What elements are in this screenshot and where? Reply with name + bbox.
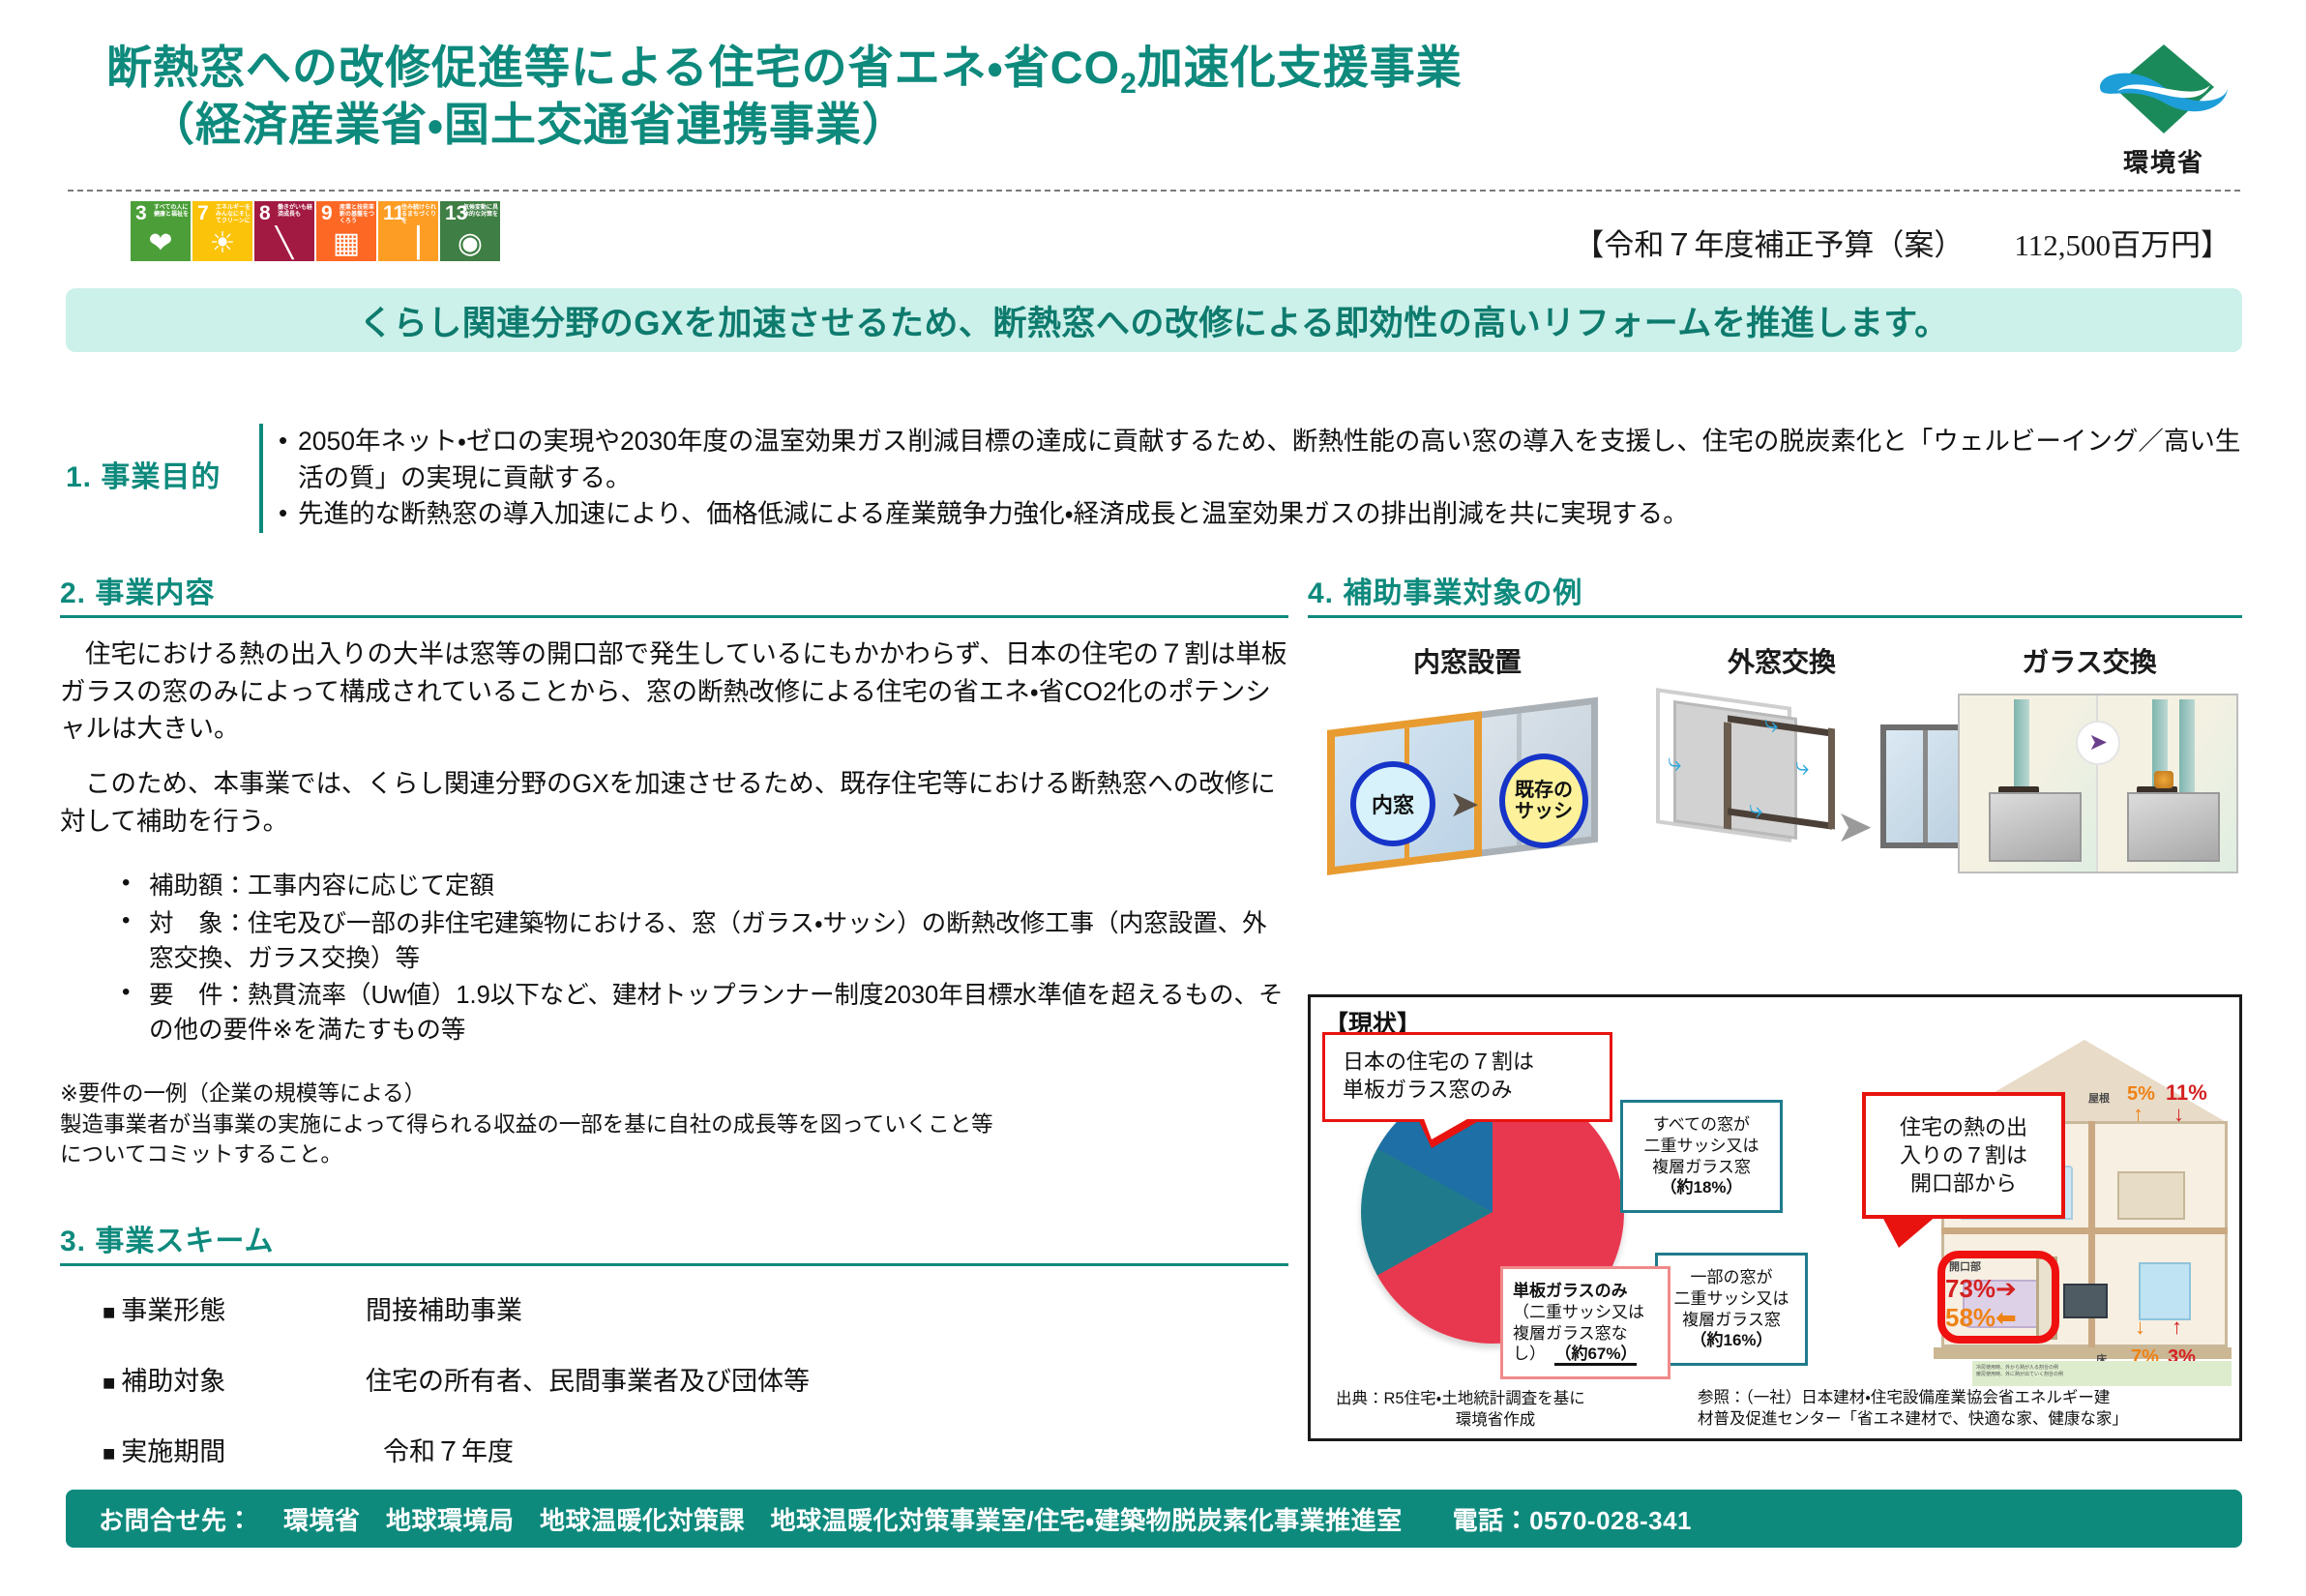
window-figures: ➤ 内窓 既存のサッシ ⤷ ⤷ ⤷ ⤷ ➤	[1308, 690, 2242, 883]
frame-graphic	[1989, 792, 2082, 862]
source-line-2: 材普及促進センター「省エネ建材で、快適な家、健康な家」	[1698, 1409, 2230, 1431]
section-examples: 4. 補助事業対象の例 内窓設置 外窓交換 ガラス交換 ➤ 内窓 既存のサッシ	[1308, 569, 2242, 883]
moe-emblem-icon	[2096, 37, 2232, 141]
outer-window-figure: ⤷ ⤷ ⤷ ⤷ ➤	[1648, 690, 1960, 883]
growth-chart-icon: ╲	[254, 229, 314, 258]
window-type-label-glass: ガラス交換	[1936, 641, 2242, 680]
arrow-right-icon: ➤	[1449, 786, 1480, 823]
opening-label: 開口部	[1949, 1258, 1981, 1274]
legend-out: 冷房使用時、外から熱が入る割合の例	[1976, 1365, 2058, 1371]
sdg-icon-7: 7 エネルギーをみんなにそしてクリーンに ☀	[192, 201, 252, 261]
list-item: 対 象：住宅及び一部の非住宅建築物における、窓（ガラス・サッシ）の断熱改修工事（…	[118, 906, 1288, 976]
curved-arrow-icon: ⤷	[1795, 754, 1810, 779]
scheme-key: 事業形態	[103, 1289, 366, 1327]
curved-arrow-icon: ⤷	[1764, 711, 1779, 736]
title-line-2: （経済産業省・国土交通省連携事業）	[106, 96, 1944, 153]
sdg-icon-row: 3 すべての人に健康と福祉を ❤ 7 エネルギーをみんなにそしてクリーンに ☀ …	[131, 201, 500, 261]
sdg-icon-9: 9 産業と技術革新の基盤をつくろう ▦	[316, 201, 376, 261]
arrow-up-icon: ↑	[2172, 1316, 2182, 1338]
scheme-value: 間接補助事業	[366, 1289, 1288, 1327]
arrow-right-icon: ➤	[1836, 804, 1874, 848]
section-2-bullets: 補助額：工事内容に応じて定額 対 象：住宅及び一部の非住宅建築物における、窓（ガ…	[60, 869, 1288, 1048]
section-4-heading: 4. 補助事業対象の例	[1308, 569, 2242, 611]
footer-text: お問合せ先：環境省 地球環境局 地球温暖化対策課 地球温暖化対策事業室/住宅・建…	[66, 1501, 1692, 1537]
page-title: 断熱窓への改修促進等による住宅の省エネ・省CO2加速化支援事業 （経済産業省・国…	[106, 39, 1944, 153]
highlight-banner: くらし関連分野のGXを加速させるため、断熱窓への改修による即効性の高いリフォーム…	[66, 288, 2242, 352]
curved-arrow-icon: ⤷	[1668, 750, 1682, 775]
ministry-logo: 環境省	[2091, 37, 2236, 179]
sdg-icon-11: 11 住み続けられるまちづくりを ▕	[378, 201, 438, 261]
floor-divider	[1941, 1227, 2228, 1234]
callout-house-headline: 住宅の熱の出入りの７割は開口部から	[1862, 1092, 2065, 1219]
current-status-panel: 【現状】 日本の住宅の７割は単板ガラス窓のみ すべての窓が二重サッシ又は複層ガラ…	[1308, 994, 2242, 1441]
curved-arrow-icon: ⤷	[1749, 796, 1763, 821]
table-row: 補助対象 住宅の所有者、民間事業者及び団体等	[103, 1360, 1288, 1398]
climate-eye-icon: ◉	[440, 229, 500, 258]
section-2-rule	[60, 615, 1288, 618]
arrow-right-icon: ➔	[1996, 1276, 2017, 1301]
sun-icon: ☀	[192, 229, 252, 258]
slide-page: 断熱窓への改修促進等による住宅の省エネ・省CO2加速化支援事業 （経済産業省・国…	[0, 0, 2306, 1596]
frame-bar	[1828, 728, 1835, 830]
arrow-up-icon: ↑	[2133, 1104, 2143, 1125]
callout-tail	[1881, 1215, 1937, 1248]
footer-label: お問合せ先：	[99, 1506, 252, 1535]
header-divider	[68, 190, 2240, 192]
list-item: 先進的な断熱窓の導入加速により、価格低減による産業競争力強化・経済成長と温室効果…	[277, 496, 2242, 533]
scheme-key: 補助対象	[103, 1360, 366, 1398]
roof-in-pct: 11%	[2166, 1082, 2207, 1104]
list-item: 要 件：熱貫流率（Uw値）1.9以下など、建材トップランナー制度2030年目標水…	[118, 978, 1288, 1048]
section-3-heading: 3. 事業スキーム	[60, 1217, 1288, 1259]
window-type-label-outer: 外窓交換	[1627, 641, 1936, 680]
scheme-value: 住宅の所有者、民間事業者及び団体等	[366, 1360, 1288, 1398]
existing-sash-badge: 既存のサッシ	[1499, 754, 1588, 848]
cubes-icon: ▦	[316, 229, 376, 258]
note-line-2: 製造事業者が当事業の実施によって得られる収益の一部を基に自社の成長等を図っていく…	[60, 1109, 1288, 1139]
callout-tail	[1418, 1119, 1482, 1148]
arrow-down-icon: ↓	[2135, 1316, 2145, 1338]
pie-source-note: 出典：R5住宅・土地統計調査を基に 環境省作成	[1336, 1389, 1655, 1431]
list-item: 補助額：工事内容に応じて定額	[118, 869, 1288, 903]
sdg-icon-13: 13 気候変動に具体的な対策を ◉	[440, 201, 500, 261]
source-line-1: 出典：R5住宅・土地統計調査を基に	[1336, 1389, 1655, 1409]
pie-label-all-double: すべての窓が二重サッシ又は複層ガラス窓（約18%）	[1620, 1100, 1783, 1213]
window-type-titles: 内窓設置 外窓交換 ガラス交換	[1308, 641, 2242, 680]
scheme-table: 事業形態 間接補助事業 補助対象 住宅の所有者、民間事業者及び団体等 実施期間 …	[60, 1289, 1288, 1468]
section-purpose: 1. 事業目的 2050年ネット・ゼロの実現や2030年度の温室効果ガス削減目標…	[66, 424, 2242, 533]
inner-window-badge: 内窓	[1350, 761, 1435, 846]
arrow-down-icon: ↓	[2173, 1104, 2184, 1125]
arrow-left-icon: ⬅	[1996, 1305, 2017, 1330]
bathroom-graphic	[2139, 1262, 2191, 1320]
note-line-3: についてコミットすること。	[60, 1139, 1288, 1169]
table-row: 実施期間 令和７年度	[103, 1431, 1288, 1468]
seal-graphic	[2154, 771, 2173, 788]
pie-label-single-glass: 単板ガラスのみ （二重サッシ又は複層ガラス窓なし） （約67%）	[1500, 1266, 1670, 1379]
budget-line: 【令和７年度補正予算（案）112,500百万円】	[1574, 221, 2231, 264]
section-2-paragraph-2: このため、本事業では、くらし関連分野のGXを加速させるため、既存住宅等における断…	[60, 765, 1288, 840]
sdg-icon-8: 8 働きがいも経済成長も ╲	[254, 201, 314, 261]
budget-amount: 112,500百万円】	[2014, 228, 2231, 262]
glass-after-panel	[2098, 695, 2236, 872]
source-line-2: 環境省作成	[1336, 1410, 1655, 1431]
arrow-right-icon: ➤	[2076, 721, 2120, 765]
inner-window-figure: ➤ 内窓 既存のサッシ	[1317, 697, 1646, 872]
ministry-name: 環境省	[2091, 143, 2236, 179]
note-line-1: ※要件の一例（企業の規模等による）	[60, 1079, 1288, 1108]
section-2-paragraph-1: 住宅における熱の出入りの大半は窓等の開口部で発生しているにもかかわらず、日本の住…	[60, 635, 1288, 748]
section-2-note: ※要件の一例（企業の規模等による） 製造事業者が当事業の実施によって得られる収益…	[60, 1079, 1288, 1168]
city-icon: ▕	[378, 229, 438, 258]
list-item: 2050年ネット・ゼロの実現や2030年度の温室効果ガス削減目標の達成に貢献する…	[277, 424, 2242, 496]
tv-graphic	[2063, 1284, 2108, 1318]
title-line-1: 断熱窓への改修促進等による住宅の省エネ・省CO2加速化支援事業	[106, 39, 1944, 96]
banner-text: くらし関連分野のGXを加速させるため、断熱窓への改修による即効性の高いリフォーム…	[359, 296, 1948, 345]
frame-graphic	[2127, 792, 2220, 862]
footer-office: 環境省 地球環境局 地球温暖化対策課 地球温暖化対策事業室/住宅・建築物脱炭素化…	[283, 1506, 1403, 1535]
section-content: 2. 事業内容 住宅における熱の出入りの大半は窓等の開口部で発生しているにもかか…	[60, 569, 1288, 1169]
new-window-graphic	[1880, 724, 1969, 848]
section-1-heading-wrap: 1. 事業目的	[66, 424, 259, 533]
source-line-1: 参照：（一社）日本建材・住宅設備産業協会省エネルギー建	[1698, 1388, 2230, 1409]
budget-label: 【令和７年度補正予算（案）	[1574, 228, 1964, 262]
table-row: 事業形態 間接補助事業	[103, 1289, 1288, 1327]
section-4-rule	[1308, 615, 2242, 618]
scheme-value: 令和７年度	[366, 1431, 1288, 1468]
house-source-note: 参照：（一社）日本建材・住宅設備産業協会省エネルギー建 材普及促進センター「省エ…	[1698, 1388, 2230, 1431]
heartbeat-icon: ❤	[131, 229, 191, 258]
footer-phone: 電話：0570-028-341	[1453, 1506, 1692, 1535]
sdg-icon-3: 3 すべての人に健康と福祉を ❤	[131, 201, 191, 261]
glass-before-panel	[1960, 695, 2098, 872]
section-3-rule	[60, 1263, 1288, 1266]
heat-legend: 冷房使用時、外から熱が入る割合の例 暖房使用時、外に熱が出ていく割合の例	[1972, 1361, 2232, 1386]
opening-in-pct: 58%	[1945, 1303, 1996, 1333]
callout-pie-headline: 日本の住宅の７割は単板ガラス窓のみ	[1322, 1032, 1612, 1122]
contact-footer: お問合せ先：環境省 地球環境局 地球温暖化対策課 地球温暖化対策事業室/住宅・建…	[66, 1490, 2242, 1548]
roof-label: 屋根	[2088, 1090, 2110, 1106]
glass-exchange-figure: ➤	[1958, 694, 2238, 873]
pie-label-partial-double: 一部の窓が二重サッシ又は複層ガラス窓（約16%）	[1655, 1253, 1808, 1366]
desk-graphic	[2117, 1171, 2185, 1220]
scheme-key: 実施期間	[103, 1431, 366, 1468]
window-type-label-inner: 内窓設置	[1308, 641, 1627, 680]
section-1-heading: 1. 事業目的	[66, 453, 259, 495]
opening-out-pct: 73%	[1945, 1274, 1996, 1304]
section-scheme: 3. 事業スキーム 事業形態 間接補助事業 補助対象 住宅の所有者、民間事業者及…	[60, 1217, 1288, 1501]
legend-in: 暖房使用時、外に熱が出ていく割合の例	[1976, 1372, 2063, 1377]
section-2-heading: 2. 事業内容	[60, 569, 1288, 611]
section-1-bullets: 2050年ネット・ゼロの実現や2030年度の温室効果ガス削減目標の達成に貢献する…	[259, 424, 2242, 533]
roof-out-pct: 5%	[2127, 1084, 2155, 1104]
